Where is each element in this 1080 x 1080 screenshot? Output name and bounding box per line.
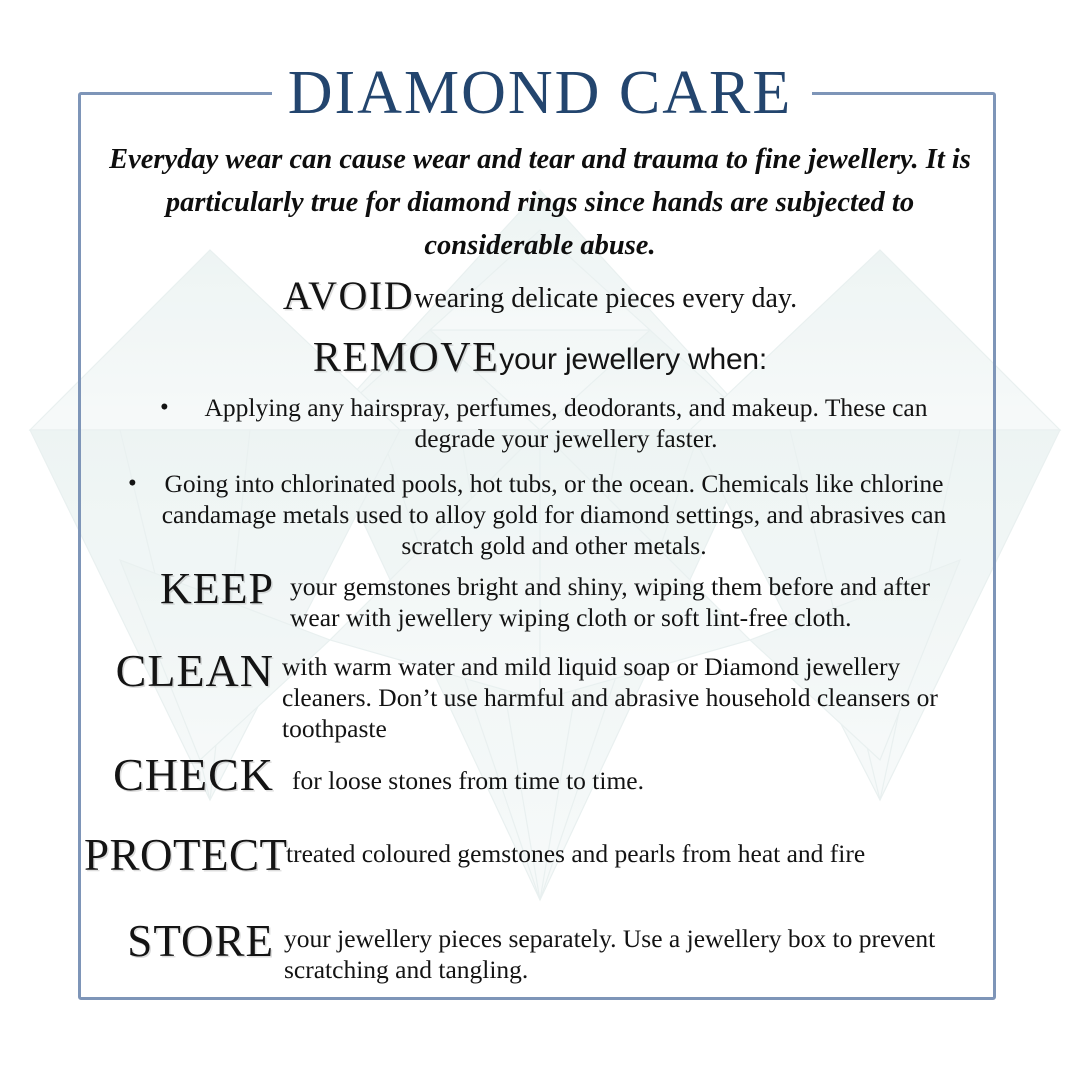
section-check: CHECK for loose stones from time to time… [84,752,984,798]
list-item-text: Going into chlorinated pools, hot tubs, … [162,469,947,560]
section-keyword: KEEP [84,566,274,612]
remove-keyword: REMOVE [313,335,499,381]
section-clean: CLEAN with warm water and mild liquid so… [84,648,984,744]
section-store: STORE your jewellery pieces separately. … [84,918,984,985]
section-keyword: CHECK [84,752,274,798]
avoid-line: AVOIDwearing delicate pieces every day. [90,272,990,319]
remove-line: REMOVEyour jewellery when: [90,334,990,382]
section-protect: PROTECT treated coloured gemstones and p… [84,832,984,878]
section-text: with warm water and mild liquid soap or … [274,648,984,744]
section-keyword: CLEAN [84,648,274,694]
list-item: • Applying any hairspray, perfumes, deod… [110,392,980,454]
intro-paragraph: Everyday wear can cause wear and tear an… [90,138,990,267]
section-text: for loose stones from time to time. [274,752,984,796]
page-title: DIAMOND CARE [0,58,1080,128]
list-item: • Going into chlorinated pools, hot tubs… [110,468,980,561]
section-keyword: STORE [84,918,274,964]
bullet-dot-icon: • [128,468,137,499]
section-keep: KEEP your gemstones bright and shiny, wi… [84,566,984,633]
list-item-text: Applying any hairspray, perfumes, deodor… [205,393,928,453]
bullet-dot-icon: • [160,392,169,423]
avoid-keyword: AVOID [283,273,414,318]
section-text: treated coloured gemstones and pearls fr… [274,832,984,869]
section-text: your gemstones bright and shiny, wiping … [274,566,984,633]
remove-bullet-list: • Applying any hairspray, perfumes, deod… [110,392,980,561]
section-text: your jewellery pieces separately. Use a … [274,918,984,985]
section-keyword: PROTECT [84,832,274,878]
remove-text: your jewellery when: [499,343,767,376]
diamond-care-poster: DIAMOND CARE Everyday wear can cause wea… [0,0,1080,1080]
avoid-text: wearing delicate pieces every day. [414,283,797,314]
